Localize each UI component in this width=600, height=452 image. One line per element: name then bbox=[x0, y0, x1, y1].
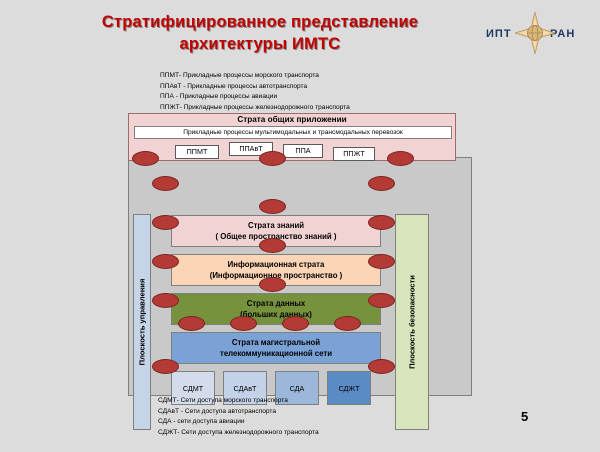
connector-ellipse bbox=[132, 151, 159, 166]
connector-ellipse bbox=[259, 151, 286, 166]
multimodal-processes-box: Прикладные процессы мультимодальных и тр… bbox=[134, 126, 452, 139]
legend-top-item: ППА - Прикладные процессы авиации bbox=[160, 92, 490, 103]
architecture-diagram: Плоскость управления Плоскость безопасно… bbox=[128, 113, 472, 396]
connector-ellipse bbox=[368, 176, 395, 191]
connector-ellipse bbox=[230, 316, 257, 331]
stratum-telecom: Страта магистральной телекоммуникационно… bbox=[171, 332, 381, 364]
connector-ellipse bbox=[152, 254, 179, 269]
page-number: 5 bbox=[521, 409, 528, 424]
connector-ellipse bbox=[387, 151, 414, 166]
app-box-ppmt: ППМТ bbox=[175, 145, 219, 159]
legend-bottom-item: СДАвТ - Сети доступа автотранспорта bbox=[158, 407, 488, 418]
connector-ellipse bbox=[368, 359, 395, 374]
connector-ellipse bbox=[259, 199, 286, 214]
legend-top: ППМТ- Прикладные процессы морского транс… bbox=[160, 71, 490, 114]
connector-ellipse bbox=[368, 293, 395, 308]
connector-ellipse bbox=[152, 176, 179, 191]
stratum-information-line-1: Информационная страта bbox=[172, 259, 380, 270]
connector-ellipse bbox=[259, 238, 286, 253]
connector-ellipse bbox=[334, 316, 361, 331]
stratum-data-line-1: Страта данных bbox=[172, 298, 380, 309]
connector-ellipse bbox=[152, 293, 179, 308]
legend-top-item: ППАвТ - Прикладные процессы автотранспор… bbox=[160, 82, 490, 93]
logo-left-text: ИПТ bbox=[486, 28, 512, 40]
stratum-knowledge-line-1: Страта знаний bbox=[172, 220, 380, 231]
page-title-line-1: Стратифицированное представление bbox=[102, 13, 418, 31]
legend-bottom: СДМТ- Сети доступа морского транспорта С… bbox=[158, 396, 488, 439]
logo: ИПТ РАН bbox=[484, 12, 588, 58]
connector-ellipse bbox=[178, 316, 205, 331]
stratum-telecom-line-2: телекоммуникационной сети bbox=[172, 348, 380, 359]
page-title: Стратифицированное представление архитек… bbox=[60, 12, 460, 56]
stratum-telecom-line-1: Страта магистральной bbox=[172, 337, 380, 348]
slide-canvas: Стратифицированное представление архитек… bbox=[0, 0, 600, 452]
compass-star-icon bbox=[515, 12, 555, 54]
app-box-ppzht: ППЖТ bbox=[333, 147, 375, 161]
app-box-ppa: ППА bbox=[283, 144, 323, 158]
connector-ellipse bbox=[368, 215, 395, 230]
legend-bottom-item: СДМТ- Сети доступа морского транспорта bbox=[158, 396, 488, 407]
diagram-body: Плоскость управления Плоскость безопасно… bbox=[128, 157, 472, 396]
legend-bottom-item: СДА - сети доступа авиации bbox=[158, 417, 488, 428]
connector-ellipse bbox=[259, 277, 286, 292]
legend-top-item: ППМТ- Прикладные процессы морского транс… bbox=[160, 71, 490, 82]
connector-ellipse bbox=[368, 254, 395, 269]
control-plane-label: Плоскость управления bbox=[138, 279, 147, 366]
legend-bottom-item: СДЖТ- Сети доступа железнодорожного тран… bbox=[158, 428, 488, 439]
security-plane-label: Плоскость безопасности bbox=[408, 275, 417, 369]
applications-band-title: Страта общих приложении bbox=[129, 115, 455, 124]
connector-ellipse bbox=[282, 316, 309, 331]
page-title-line-2: архитектуры ИМТС bbox=[60, 34, 460, 56]
connector-ellipse bbox=[152, 359, 179, 374]
control-plane: Плоскость управления bbox=[133, 214, 151, 430]
connector-ellipse bbox=[152, 215, 179, 230]
